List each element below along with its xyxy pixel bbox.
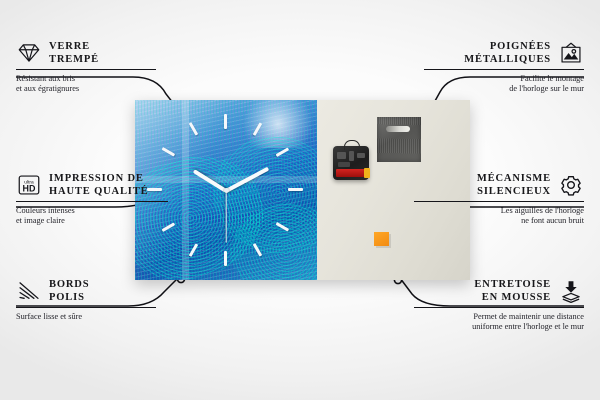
feature-title-line2: MÉTALLIQUES [464,53,551,66]
feature-title: ENTRETOISE EN MOUSSE [474,278,551,304]
feature-subtitle: Facilite le montage de l'horloge sur le … [424,74,584,94]
feature-entretoise-en-mousse: ENTRETOISE EN MOUSSE Permet de maintenir… [414,278,584,332]
feature-bords-polis: BORDS POLIS Surface lisse et sûre [16,278,176,322]
mechanism-detail [349,151,354,161]
feature-title-line2: SILENCIEUX [477,185,551,198]
feature-title-line1: POIGNÉES [464,40,551,53]
mechanism-battery [336,169,366,177]
mechanism-detail [357,153,365,158]
feature-title-line2: TREMPÉ [49,53,99,66]
feature-subtitle-line1: Facilite le montage [424,74,584,84]
feature-divider [16,69,156,70]
clock-tick [189,122,198,135]
feature-divider [424,69,584,70]
hanger-plate [377,117,421,162]
feature-divider [16,307,156,308]
clock-center-hub [224,188,229,193]
mechanism-detail [337,152,346,159]
feature-subtitle-line1: Résistant aux bris [16,74,176,84]
feature-mecanisme-silencieux: MÉCANISME SILENCIEUX Les aiguilles de l'… [414,172,584,226]
battery-plus-terminal [364,168,370,178]
feature-subtitle: Les aiguilles de l'horloge ne font aucun… [414,206,584,226]
feature-poignees-metalliques: POIGNÉES MÉTALLIQUES Facilite le montage… [424,40,584,94]
feature-title-line1: IMPRESSION DE [49,172,148,185]
feature-divider [414,201,584,202]
feature-title-line2: EN MOUSSE [474,291,551,304]
foam-spacer-icon [558,279,584,303]
feature-subtitle-line1: Permet de maintenir une distance [414,312,584,322]
feature-title-line1: MÉCANISME [477,172,551,185]
picture-hanger-icon [558,41,584,65]
feature-title-line1: VERRE [49,40,99,53]
feature-title-line2: POLIS [49,291,89,304]
clock-hand-second [225,191,226,243]
clock-mechanism [333,146,369,180]
feature-title-line1: ENTRETOISE [474,278,551,291]
feature-subtitle-line1: Les aiguilles de l'horloge [414,206,584,216]
feature-subtitle-line2: et aux égratignures [16,84,176,94]
feature-subtitle-line2: de l'horloge sur le mur [424,84,584,94]
infographic-canvas: VERRE TREMPÉ Résistant aux bris et aux é… [0,0,600,400]
ultra-hd-icon: ultra HD [16,173,42,197]
feature-subtitle-line2: et image claire [16,216,191,226]
clock-tick [224,114,227,129]
polished-edges-icon [16,279,42,303]
feature-subtitle: Couleurs intenses et image claire [16,206,191,226]
feature-subtitle-line2: ne font aucun bruit [414,216,584,226]
ultra-hd-icon-big-label: HD [23,184,36,194]
feature-divider [16,201,168,202]
feature-subtitle-line1: Surface lisse et sûre [16,312,176,322]
feature-title: POIGNÉES MÉTALLIQUES [464,40,551,66]
feature-subtitle: Permet de maintenir une distance uniform… [414,312,584,332]
clock-tick [224,251,227,266]
feature-subtitle-line2: uniforme entre l'horloge et le mur [414,322,584,332]
feature-title-line2: HAUTE QUALITÉ [49,185,148,198]
feature-subtitle: Surface lisse et sûre [16,312,176,322]
diamond-icon [16,41,42,65]
clock-tick [288,188,303,191]
mechanism-detail [338,162,350,167]
foam-spacer [374,232,389,246]
clock-tick [162,147,175,156]
feature-title: VERRE TREMPÉ [49,40,99,66]
feature-impression-haute-qualite: ultra HD IMPRESSION DE HAUTE QUALITÉ Cou… [16,172,191,226]
feature-divider [414,307,584,308]
feature-title: IMPRESSION DE HAUTE QUALITÉ [49,172,148,198]
mechanism-hanging-loop [344,140,360,150]
feature-title: MÉCANISME SILENCIEUX [477,172,551,198]
feature-subtitle-line1: Couleurs intenses [16,206,191,216]
feature-title: BORDS POLIS [49,278,89,304]
gear-icon [558,173,584,197]
feature-subtitle: Résistant aux bris et aux égratignures [16,74,176,94]
feature-title-line1: BORDS [49,278,89,291]
feature-verre-trempe: VERRE TREMPÉ Résistant aux bris et aux é… [16,40,176,94]
hanger-keyhole-slot [386,126,410,132]
